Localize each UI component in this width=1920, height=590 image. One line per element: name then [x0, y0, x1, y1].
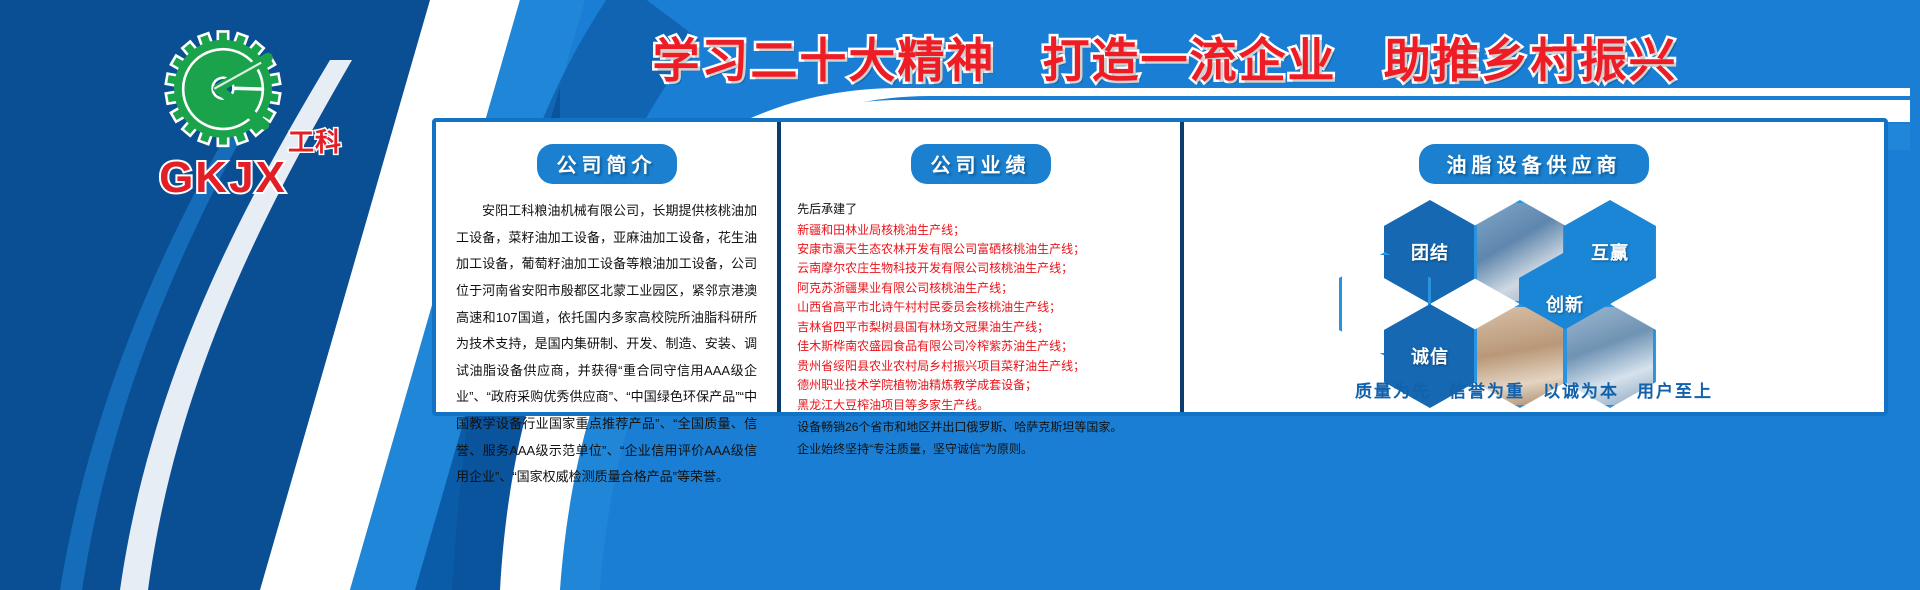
panel-performance-title: 公司业绩 [911, 144, 1051, 184]
performance-item: 山西省高平市北诗午村村民委员会核桃油生产线； [797, 298, 1164, 317]
gear-logo-icon [148, 28, 298, 158]
performance-item: 新疆和田林业局核桃油生产线； [797, 221, 1164, 240]
panel-intro-body: 安阳工科粮油机械有限公司，长期提供核桃油加工设备，菜籽油加工设备，亚麻油加工设备… [450, 198, 763, 491]
headline-part-2: 打造一流企业 [1043, 34, 1337, 87]
poster-canvas: 工科 GKJX 学习二十大精神 打造一流企业 助推乡村振兴 公司简介 安阳工科粮… [0, 0, 1920, 590]
slogan-phrase: 以诚为本 [1543, 382, 1619, 401]
performance-summary: 设备畅销26个省市和地区并出口俄罗斯、哈萨克斯坦等国家。企业始终坚持“专注质量，… [797, 418, 1164, 460]
performance-item: 云南摩尔农庄生物科技开发有限公司核桃油生产线； [797, 259, 1164, 278]
performance-item: 贵州省绥阳县农业农村局乡村振兴项目菜籽油生产线； [797, 357, 1164, 376]
performance-item: 黑龙江大豆榨油项目等多家生产线。 [797, 396, 1164, 415]
headline-part-3: 助推乡村振兴 [1384, 34, 1678, 87]
company-logo: 工科 GKJX [108, 28, 338, 203]
logo-english-name: GKJX [108, 153, 338, 203]
hexagon-cluster: 团结互赢创新诚信 [1198, 190, 1870, 386]
content-card: 公司简介 安阳工科粮油机械有限公司，长期提供核桃油加工设备，菜籽油加工设备，亚麻… [432, 118, 1888, 416]
performance-item: 吉林省四平市梨树县国有林场文冠果油生产线； [797, 318, 1164, 337]
poster-headline: 学习二十大精神 打造一流企业 助推乡村振兴 [430, 22, 1900, 91]
performance-lead: 先后承建了 [797, 200, 1164, 219]
performance-project-list: 新疆和田林业局核桃油生产线；安康市瀛天生态农林开发有限公司富硒核桃油生产线；云南… [797, 221, 1164, 415]
performance-item: 佳木斯桦南农盛园食品有限公司冷榨紫苏油生产线； [797, 337, 1164, 356]
supplier-slogan: 质量为先信誉为重以诚为本用户至上 [1184, 377, 1884, 402]
slogan-phrase: 质量为先 [1355, 382, 1431, 401]
performance-item: 德州职业技术学院植物油精炼教学成套设备； [797, 376, 1164, 395]
panel-performance-body: 先后承建了 新疆和田林业局核桃油生产线；安康市瀛天生态农林开发有限公司富硒核桃油… [795, 200, 1166, 460]
performance-item: 安康市瀛天生态农林开发有限公司富硒核桃油生产线； [797, 240, 1164, 259]
headline-part-1: 学习二十大精神 [652, 34, 995, 87]
performance-summary-line: 设备畅销26个省市和地区并出口俄罗斯、哈萨克斯坦等国家。 [797, 418, 1164, 437]
panel-supplier: 油脂设备供应商 团结互赢创新诚信 质量为先信誉为重以诚为本用户至上 [1184, 122, 1884, 412]
performance-item: 阿克苏浙疆果业有限公司核桃油生产线； [797, 279, 1164, 298]
performance-summary-line: 企业始终坚持“专注质量，坚守诚信”为原则。 [797, 440, 1164, 459]
panel-supply-title: 油脂设备供应商 [1419, 144, 1649, 184]
panel-company-intro: 公司简介 安阳工科粮油机械有限公司，长期提供核桃油加工设备，菜籽油加工设备，亚麻… [436, 122, 777, 412]
panel-company-performance: 公司业绩 先后承建了 新疆和田林业局核桃油生产线；安康市瀛天生态农林开发有限公司… [781, 122, 1180, 412]
panel-intro-title: 公司简介 [537, 144, 677, 184]
slogan-phrase: 用户至上 [1637, 382, 1713, 401]
slogan-phrase: 信誉为重 [1449, 382, 1525, 401]
